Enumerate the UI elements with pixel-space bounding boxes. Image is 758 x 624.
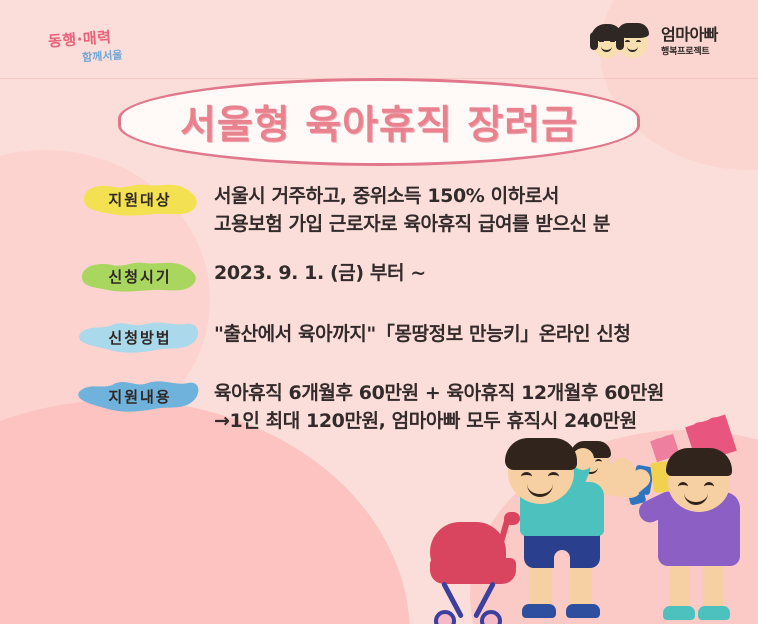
row-application-method: 신청방법 "출산에서 육아까지"「몽땅정보 만능키」온라인 신청 (0, 320, 758, 354)
stroller-knob-icon (504, 512, 520, 525)
benefit-line-1: 육아휴직 6개월후 60만원 + 육아휴직 12개월후 60만원 (214, 380, 664, 408)
family-illustration (420, 430, 758, 624)
dad-hair (505, 438, 577, 470)
hair-left-side-a (590, 32, 598, 50)
mom-hand (612, 458, 633, 479)
label-blob-application-method: 신청방법 (78, 320, 202, 354)
poster-root: 동행·매력 함께서울 엄마아빠 행복프로젝트 서울형 육아휴직 장려금 (0, 0, 758, 624)
stroller-wheel-left (434, 610, 456, 624)
application-period-line-1: 2023. 9. 1. (금) 부터 ~ (214, 260, 426, 288)
label-text-application-method: 신청방법 (108, 327, 171, 348)
row-application-period: 신청시기 2023. 9. 1. (금) 부터 ~ (0, 259, 758, 293)
mom-shoe-right (698, 606, 730, 620)
row-body-benefit-details: 육아휴직 6개월후 60만원 + 육아휴직 12개월후 60만원 →1인 최대 … (214, 379, 664, 435)
content-rows: 지원대상 서울시 거주하고, 중위소득 150% 이하로서 고용보험 가입 근로… (0, 182, 758, 436)
project-logo-title: 엄마아빠 (661, 27, 718, 44)
eligibility-line-2: 고용보험 가입 근로자로 육아휴직 급여를 받으신 분 (214, 211, 610, 239)
label-blob-eligibility: 지원대상 (78, 182, 202, 216)
label-text-application-period: 신청시기 (108, 266, 171, 287)
application-method-line-1: "출산에서 육아까지"「몽땅정보 만능키」온라인 신청 (214, 321, 630, 349)
two-faces-icon (592, 22, 654, 62)
project-logo-subtitle: 행복프로젝트 (661, 44, 718, 57)
page-title: 서울형 육아휴직 장려금 (180, 94, 578, 150)
mom-shoe-left (663, 606, 695, 620)
seoul-city-logo: 동행·매력 함께서울 (48, 26, 176, 70)
label-blob-application-period: 신청시기 (78, 259, 202, 293)
dad-shoe-left (522, 604, 556, 618)
label-text-eligibility: 지원대상 (108, 189, 171, 210)
dad-shorts-notch (554, 550, 570, 570)
title-banner: 서울형 육아휴직 장려금 (118, 78, 640, 166)
label-text-benefit-details: 지원내용 (108, 386, 171, 407)
dad-shoe-right (566, 604, 600, 618)
mom-hair-front (666, 448, 732, 476)
hair-right (617, 23, 649, 38)
row-eligibility: 지원대상 서울시 거주하고, 중위소득 150% 이하로서 고용보험 가입 근로… (0, 182, 758, 238)
row-body-application-period: 2023. 9. 1. (금) 부터 ~ (214, 259, 426, 288)
row-body-application-method: "출산에서 육아까지"「몽땅정보 만능키」온라인 신청 (214, 320, 630, 349)
label-blob-benefit-details: 지원내용 (78, 379, 202, 413)
row-body-eligibility: 서울시 거주하고, 중위소득 150% 이하로서 고용보험 가입 근로자로 육아… (214, 182, 610, 238)
stroller-basket-icon (430, 558, 516, 584)
eligibility-line-1: 서울시 거주하고, 중위소득 150% 이하로서 (214, 183, 610, 211)
stroller-wheel-right (480, 610, 502, 624)
row-benefit-details: 지원내용 육아휴직 6개월후 60만원 + 육아휴직 12개월후 60만원 →1… (0, 379, 758, 435)
project-logo-text: 엄마아빠 행복프로젝트 (661, 27, 718, 57)
project-logo: 엄마아빠 행복프로젝트 (592, 22, 718, 62)
